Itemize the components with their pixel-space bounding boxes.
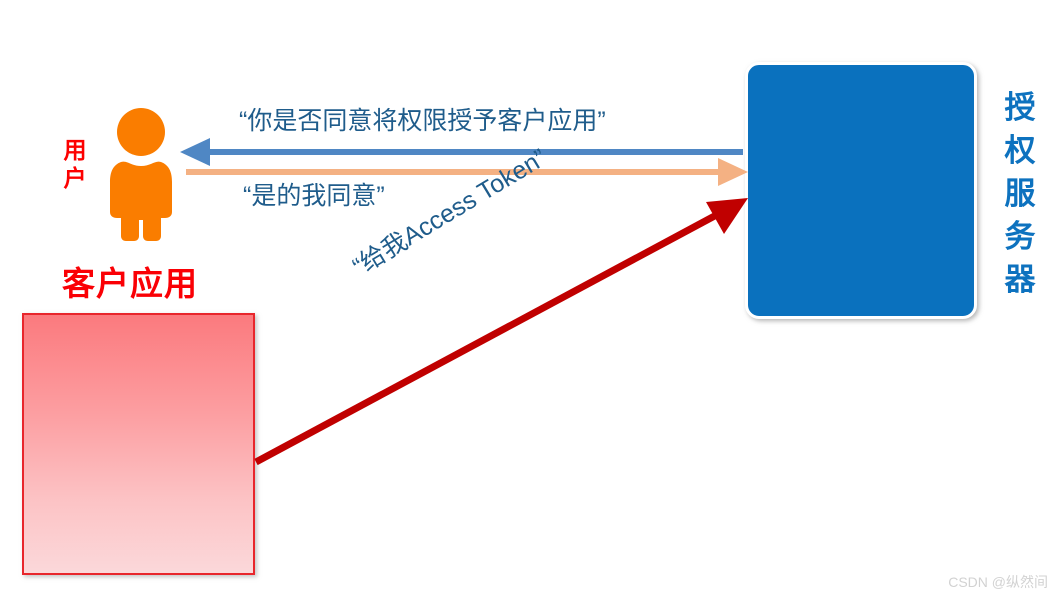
auth-server-label-char-1: 授 (998, 86, 1042, 129)
auth-server-box (745, 62, 977, 319)
user-label-line-2: 户 (58, 164, 92, 192)
diagram-canvas: 授 权 服 务 器 客户应用 用 户 (0, 0, 1062, 600)
token-request-arrow (256, 198, 748, 462)
client-app-label: 客户应用 (62, 257, 198, 305)
person-icon (108, 108, 174, 241)
auth-server-label: 授 权 服 务 器 (998, 86, 1042, 301)
watermark: CSDN @纵然间 (948, 572, 1048, 592)
user-label-line-1: 用 (58, 136, 92, 164)
user-label: 用 户 (58, 136, 92, 192)
auth-server-label-char-5: 器 (998, 258, 1042, 301)
auth-server-label-char-3: 服 (998, 172, 1042, 215)
client-app-box (22, 313, 255, 575)
auth-server-label-char-2: 权 (998, 129, 1042, 172)
consent-request-arrow (180, 138, 743, 166)
consent-grant-label: “是的我同意” (243, 176, 385, 212)
consent-request-label: “你是否同意将权限授予客户应用” (239, 101, 606, 137)
auth-server-label-char-4: 务 (998, 215, 1042, 258)
